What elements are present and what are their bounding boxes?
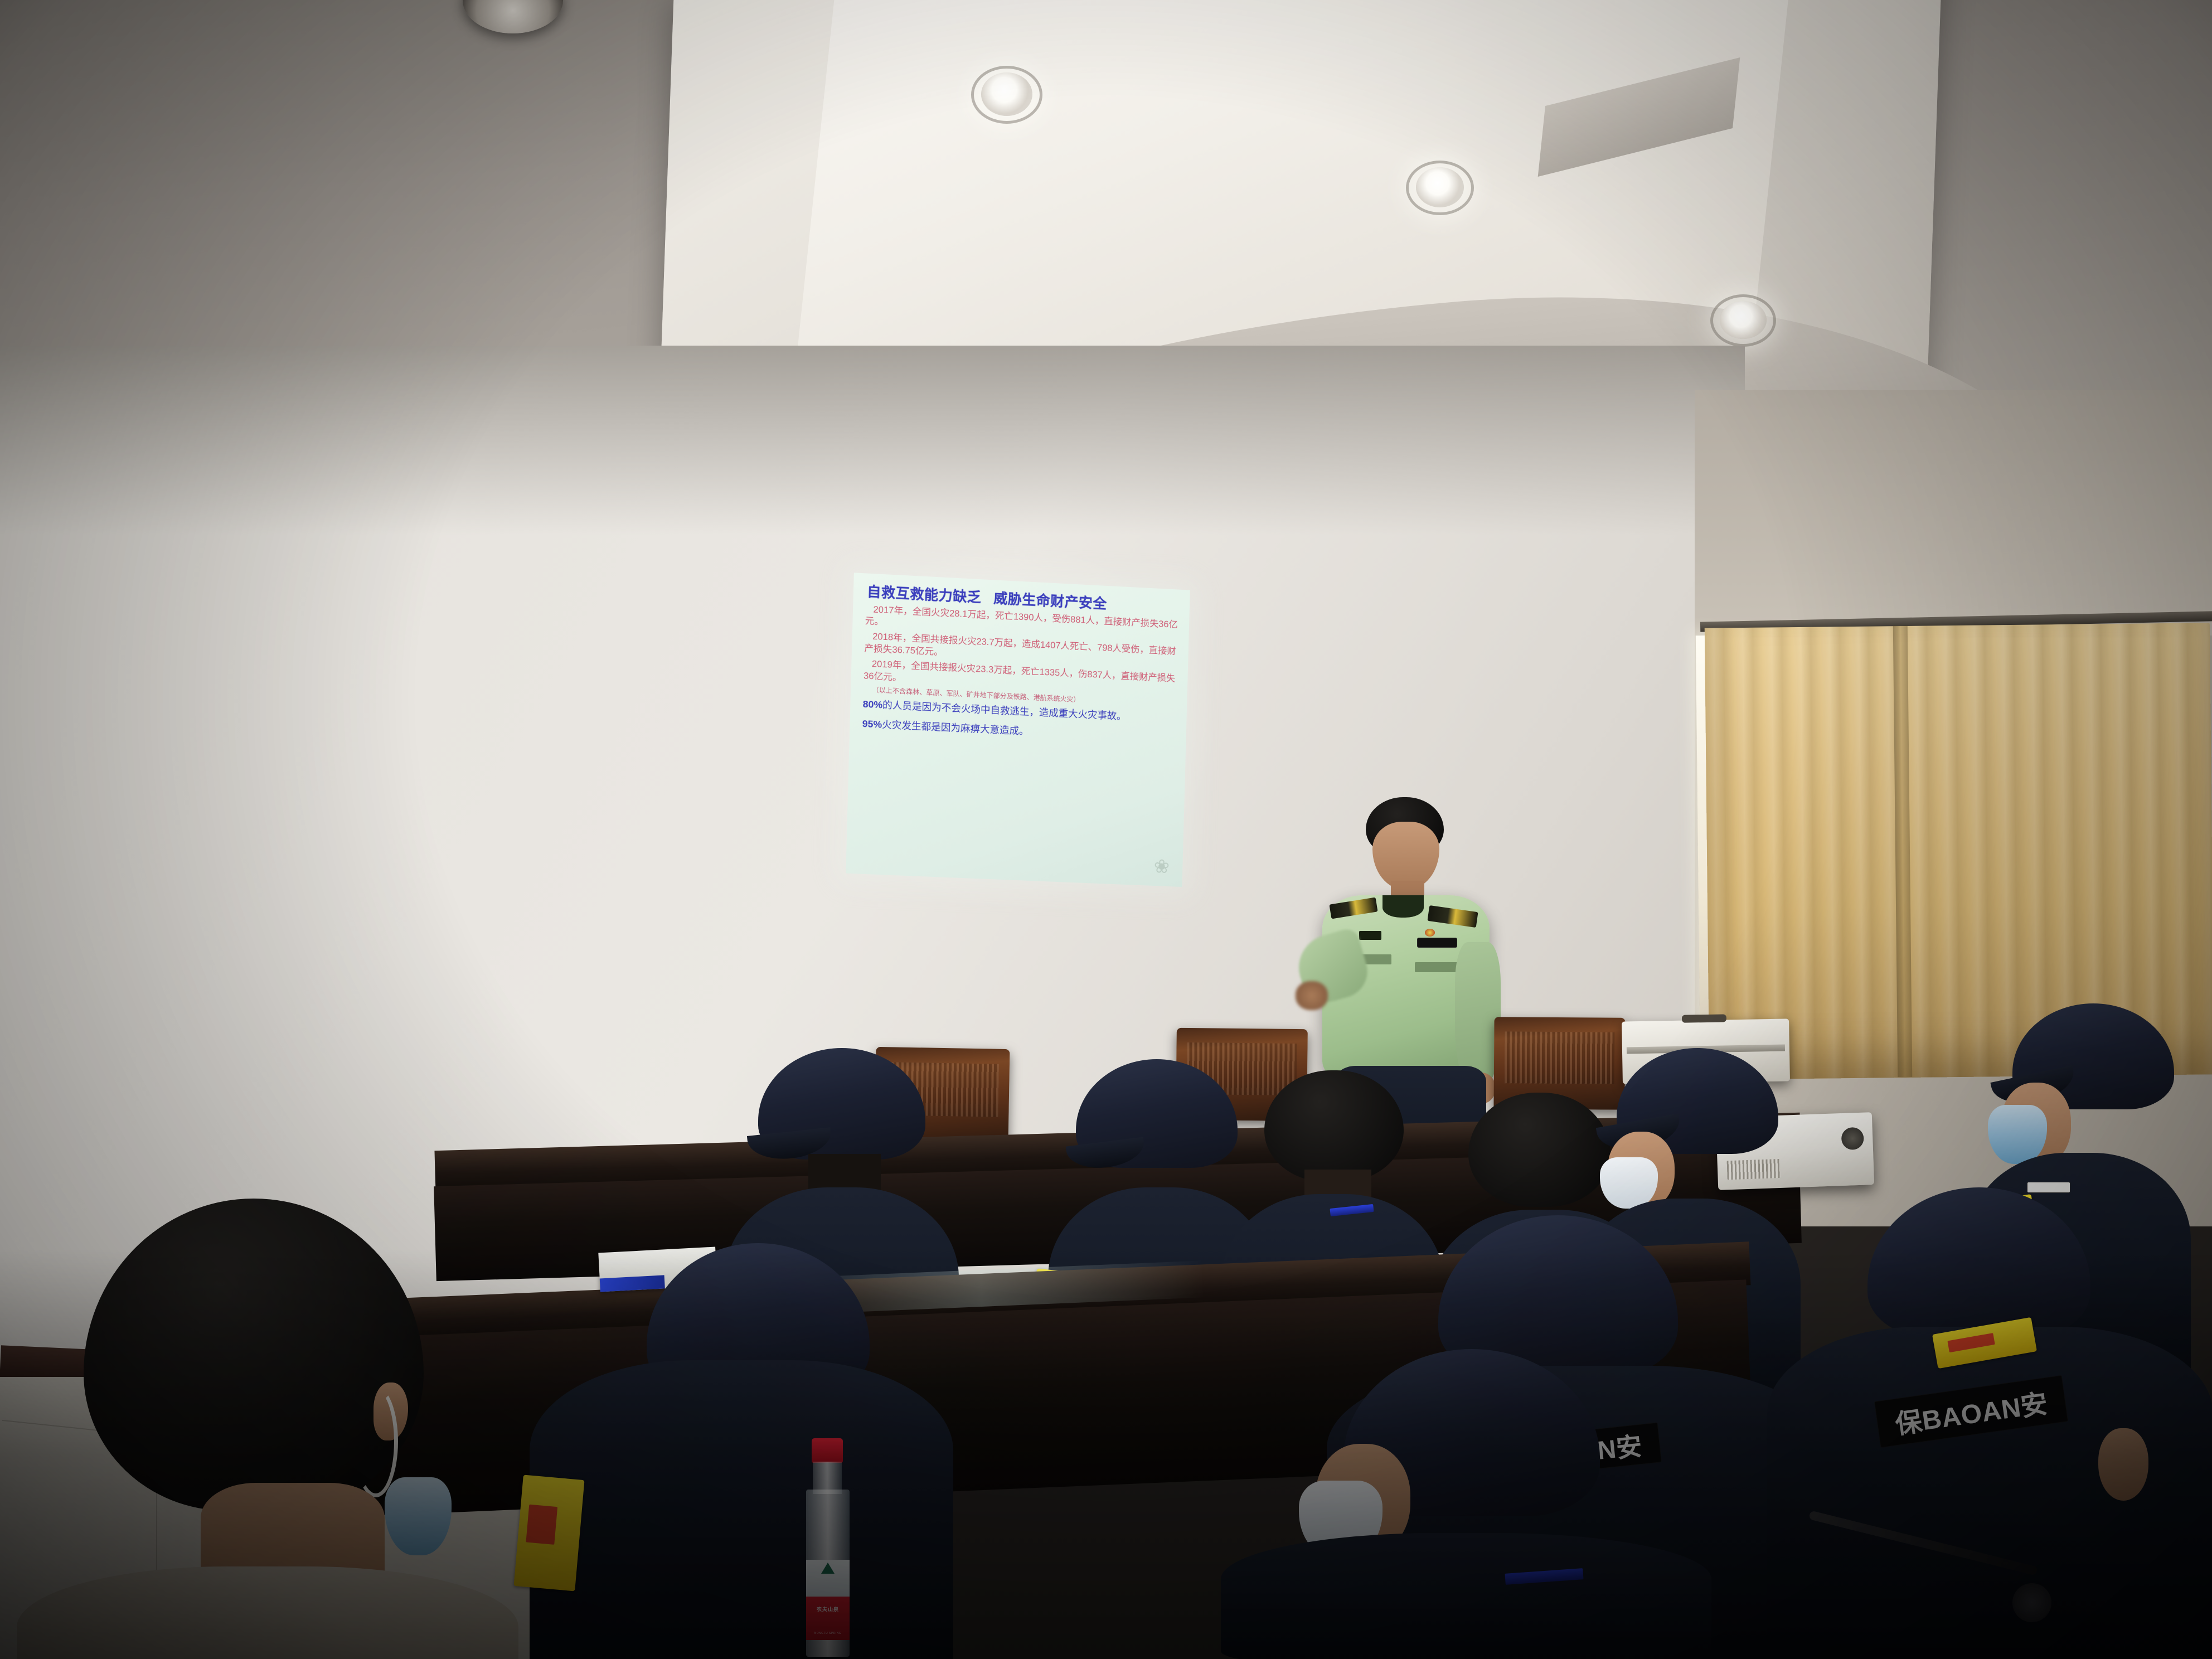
attendee-face-mask (385, 1477, 452, 1555)
water-bottle[interactable]: 农夫山泉 NONGFU SPRING (796, 1438, 857, 1656)
downlight-ring (1710, 294, 1776, 347)
presenter-name-tag (1417, 938, 1457, 948)
attendee-face-mask (1988, 1105, 2047, 1164)
training-room-photo: 自救互救能力缺乏威胁生命财产安全 2017年，全国火灾28.1万起，死亡1390… (0, 0, 2212, 1659)
right-wall-upper (1695, 390, 2212, 636)
downlight-ring (1406, 161, 1474, 215)
slide-title-left: 自救互救能力缺乏 (867, 584, 982, 606)
attendee-armband (513, 1475, 584, 1592)
attendee-foreground-left (17, 1199, 518, 1659)
presenter-face (1372, 822, 1439, 890)
presenter-collar-insignia-icon (1359, 931, 1381, 940)
bottle-cap (812, 1438, 843, 1463)
slide-highlight-80-pct: 80% (862, 698, 882, 710)
microphone-head-icon (2012, 1583, 2051, 1622)
slide-highlight-95-text: 火灾发生都是因为麻痹大意造成。 (882, 719, 1029, 736)
attendee-foreground-leftcenter (530, 1277, 953, 1659)
equipment-case-handle[interactable] (1682, 1014, 1726, 1022)
attendee-body (1221, 1533, 1711, 1659)
guard-hand (2098, 1428, 2148, 1501)
wall-top-shadow (0, 346, 1745, 535)
attendee-hair (1264, 1070, 1404, 1182)
bottle-brand-en: NONGFU SPRING (806, 1632, 850, 1635)
presenter-pocket-flap-right (1415, 962, 1459, 972)
slide-watermark-icon: ❀ (1146, 851, 1177, 882)
bottle-label-lower: 农夫山泉 NONGFU SPRING (806, 1597, 850, 1640)
guard-cap-icon (1867, 1187, 2090, 1338)
presenter-chest-emblem-icon (1425, 929, 1435, 937)
downlight-ring (971, 66, 1042, 124)
attendee-body (530, 1360, 953, 1659)
slide-highlight-95-pct: 95% (862, 718, 882, 730)
attendee-guard-back-right: 保BAOAN安 (1767, 1187, 2212, 1659)
bottle-brand-cn: 农夫山泉 (806, 1605, 850, 1613)
armband-red-text-icon (1948, 1333, 1995, 1352)
bottle-label-upper (806, 1560, 850, 1597)
guard-jacket (1767, 1327, 2212, 1659)
attendee-face-mask (1600, 1157, 1658, 1209)
presenter-collar (1382, 895, 1424, 918)
armband-red-text-icon (526, 1505, 557, 1545)
slide-title-right: 威胁生命财产安全 (993, 590, 1107, 612)
attendee-foreground-center (1215, 1349, 1717, 1659)
attendee-beige-top (17, 1566, 518, 1659)
projector-lens-icon (1841, 1127, 1864, 1150)
bottle-logo-icon (821, 1563, 835, 1574)
projected-slide: 自救互救能力缺乏威胁生命财产安全 2017年，全国火灾28.1万起，死亡1390… (846, 573, 1190, 887)
attendee-mask-strap (353, 1386, 398, 1497)
presenter-hand-gesturing (1296, 981, 1328, 1010)
